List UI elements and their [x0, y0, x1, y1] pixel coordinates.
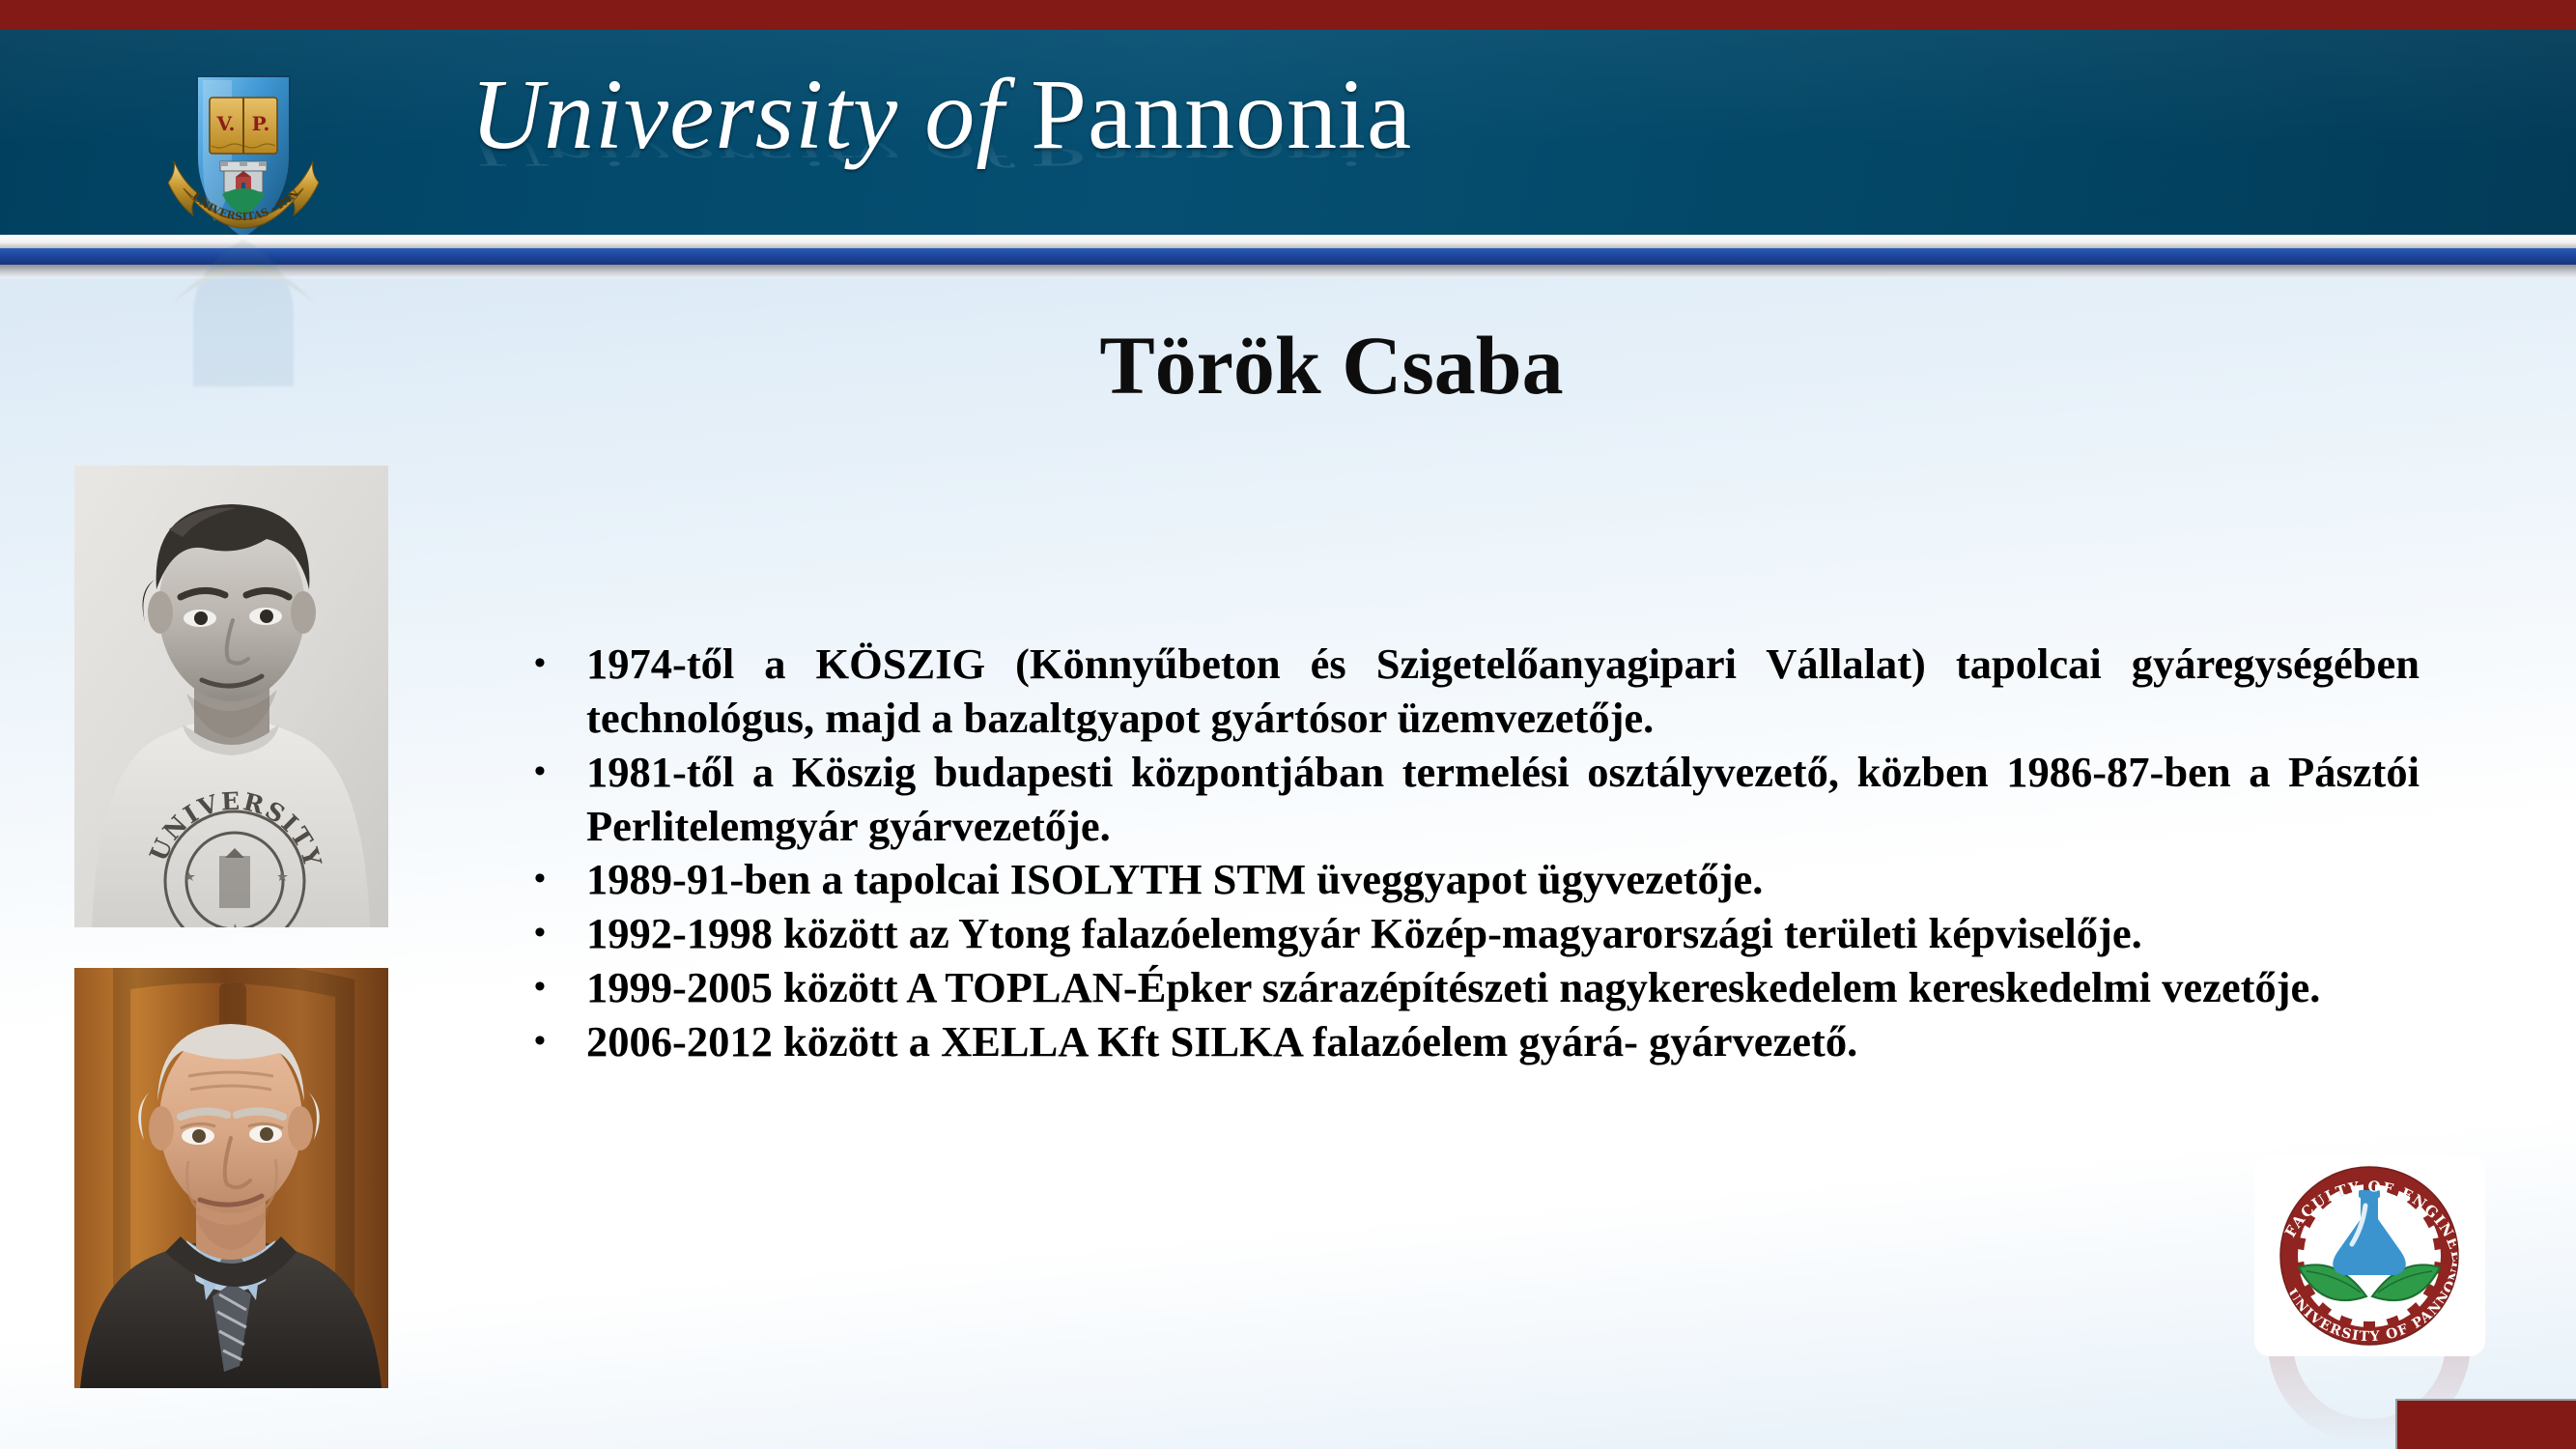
svg-text:V.: V.: [216, 112, 236, 135]
university-title: University of Pannonia: [470, 65, 1412, 165]
list-item-text: 1999-2005 között A TOPLAN-Épker szárazép…: [586, 961, 2420, 1015]
separator-blue-band: [0, 248, 2576, 265]
bullet-icon: •: [526, 746, 586, 798]
list-item: • 1989-91-ben a tapolcai ISOLYTH STM üve…: [526, 853, 2420, 907]
list-item: • 1974-től a KÖSZIG (Könnyűbeton és Szig…: [526, 638, 2420, 746]
university-title-italic: University of: [470, 59, 1005, 170]
slide: University of Pannonia University of Pan…: [0, 0, 2576, 1449]
bullet-icon: •: [526, 907, 586, 959]
list-item: • 1999-2005 között A TOPLAN-Épker száraz…: [526, 961, 2420, 1015]
list-item-text: 1981-től a Köszig budapesti központjában…: [586, 746, 2420, 854]
university-crest-icon: V. P.: [164, 69, 323, 235]
corner-red-block: [2395, 1399, 2576, 1449]
biography-bullet-list: • 1974-től a KÖSZIG (Könnyűbeton és Szig…: [526, 638, 2420, 1069]
list-item-text: 2006-2012 között a XELLA Kft SILKA falaz…: [586, 1015, 2420, 1069]
list-item-text: 1989-91-ben a tapolcai ISOLYTH STM üvegg…: [586, 853, 2420, 907]
list-item-text: 1992-1998 között az Ytong falazóelemgyár…: [586, 907, 2420, 961]
bullet-icon: •: [526, 1015, 586, 1067]
bullet-icon: •: [526, 638, 586, 690]
page-title: Török Csaba: [0, 322, 2576, 409]
photo-young-portrait: UNIVERSITY: [74, 466, 388, 927]
separator-white-band: [0, 235, 2576, 248]
svg-text:P.: P.: [252, 112, 270, 135]
list-item: • 1981-től a Köszig budapesti központjáb…: [526, 746, 2420, 854]
top-red-bar: [0, 0, 2576, 30]
list-item: • 1992-1998 között az Ytong falazóelemgy…: [526, 907, 2420, 961]
list-item-text: 1974-től a KÖSZIG (Könnyűbeton és Sziget…: [586, 638, 2420, 746]
photo-current-portrait: [74, 968, 388, 1388]
university-header-band: University of Pannonia University of Pan…: [0, 30, 2576, 235]
university-title-roman: Pannonia: [1005, 59, 1412, 170]
faculty-of-engineering-logo: FACULTY OF ENGINEERING UNIVERSITY OF PAN…: [2254, 1155, 2485, 1356]
bullet-icon: •: [526, 853, 586, 905]
list-item: • 2006-2012 között a XELLA Kft SILKA fal…: [526, 1015, 2420, 1069]
bullet-icon: •: [526, 961, 586, 1013]
separator-gray-band: [0, 265, 2576, 278]
